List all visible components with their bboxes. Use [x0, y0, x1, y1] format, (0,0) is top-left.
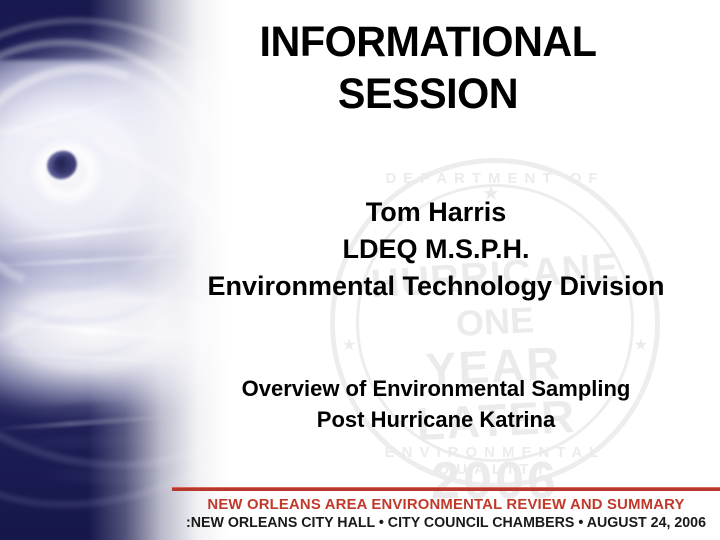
presentation-slide: DEPARTMENT OF ★ ★ ★ HURRICANE ONE YEAR L… — [0, 0, 720, 540]
star-icon: ★ — [634, 338, 648, 354]
footer-divider-rule — [172, 487, 720, 491]
footer-headline: NEW ORLEANS AREA ENVIRONMENTAL REVIEW AN… — [175, 496, 718, 513]
star-icon: ★ — [342, 338, 356, 354]
slide-title-line-2: SESSION — [161, 68, 695, 120]
subtitle-line-2: Post Hurricane Katrina — [170, 404, 702, 435]
presenter-block: Tom Harris LDEQ M.S.P.H. Environmental T… — [170, 194, 702, 305]
presenter-division: Environmental Technology Division — [170, 268, 702, 305]
subtitle-line-1: Overview of Environmental Sampling — [170, 373, 702, 404]
slide-title: INFORMATIONAL SESSION — [150, 16, 706, 120]
seal-arc-top-text: DEPARTMENT OF — [330, 170, 660, 187]
seal-arc-bottom-text: ENVIRONMENTAL QUALITY — [330, 444, 660, 478]
presenter-credentials: LDEQ M.S.P.H. — [170, 231, 702, 268]
presenter-name: Tom Harris — [170, 194, 702, 231]
slide-title-line-1: INFORMATIONAL — [161, 16, 695, 68]
footer-venue-and-date: :NEW ORLEANS CITY HALL • CITY COUNCIL CH… — [177, 515, 714, 531]
subtitle-block: Overview of Environmental Sampling Post … — [170, 373, 702, 435]
